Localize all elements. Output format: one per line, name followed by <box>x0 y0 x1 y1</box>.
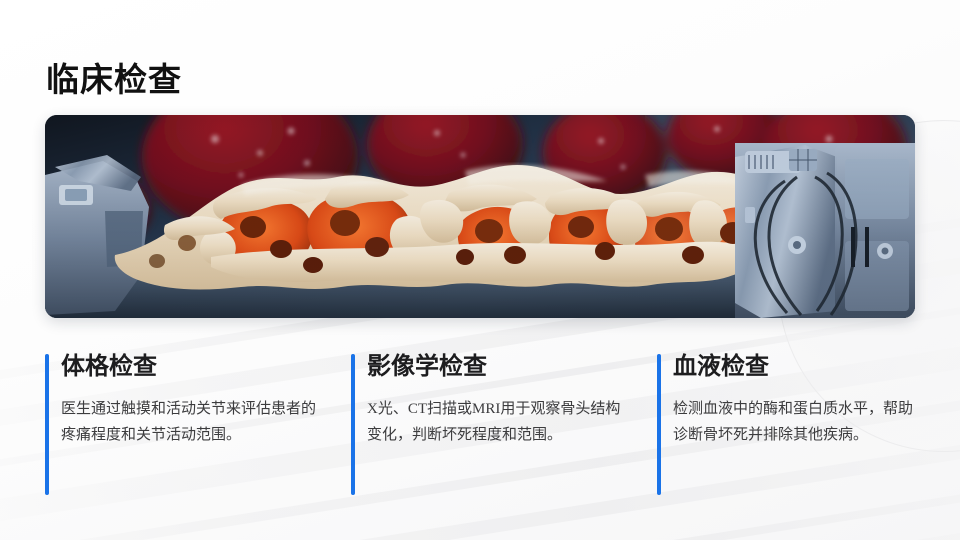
column-heading: 影像学检查 <box>367 352 657 382</box>
streak-line <box>0 499 960 540</box>
column-physical-exam: 体格检查 医生通过触摸和活动关节来评估患者的疼痛程度和关节活动范围。 <box>45 352 351 497</box>
column-imaging-exam: 影像学检查 X光、CT扫描或MRI用于观察骨头结构变化，判断坏死程度和范围。 <box>351 352 657 497</box>
hero-illustration <box>45 115 915 318</box>
column-accent-bar <box>45 354 49 495</box>
column-accent-bar <box>351 354 355 495</box>
column-body-text: X光、CT扫描或MRI用于观察骨头结构变化，判断坏死程度和范围。 <box>367 396 625 449</box>
column-body-text: 医生通过触摸和活动关节来评估患者的疼痛程度和关节活动范围。 <box>61 396 319 449</box>
slide-root: 临床检查 <box>0 0 960 540</box>
column-heading: 血液检查 <box>673 352 917 382</box>
column-heading: 体格检查 <box>61 352 351 382</box>
feature-columns: 体格检查 医生通过触摸和活动关节来评估患者的疼痛程度和关节活动范围。 影像学检查… <box>45 352 917 497</box>
column-body-text: 检测血液中的酶和蛋白质水平，帮助诊断骨坏死并排除其他疾病。 <box>673 396 917 449</box>
column-blood-exam: 血液检查 检测血液中的酶和蛋白质水平，帮助诊断骨坏死并排除其他疾病。 <box>657 352 917 497</box>
column-accent-bar <box>657 354 661 495</box>
page-title: 临床检查 <box>46 60 182 100</box>
hero-image <box>45 115 915 318</box>
